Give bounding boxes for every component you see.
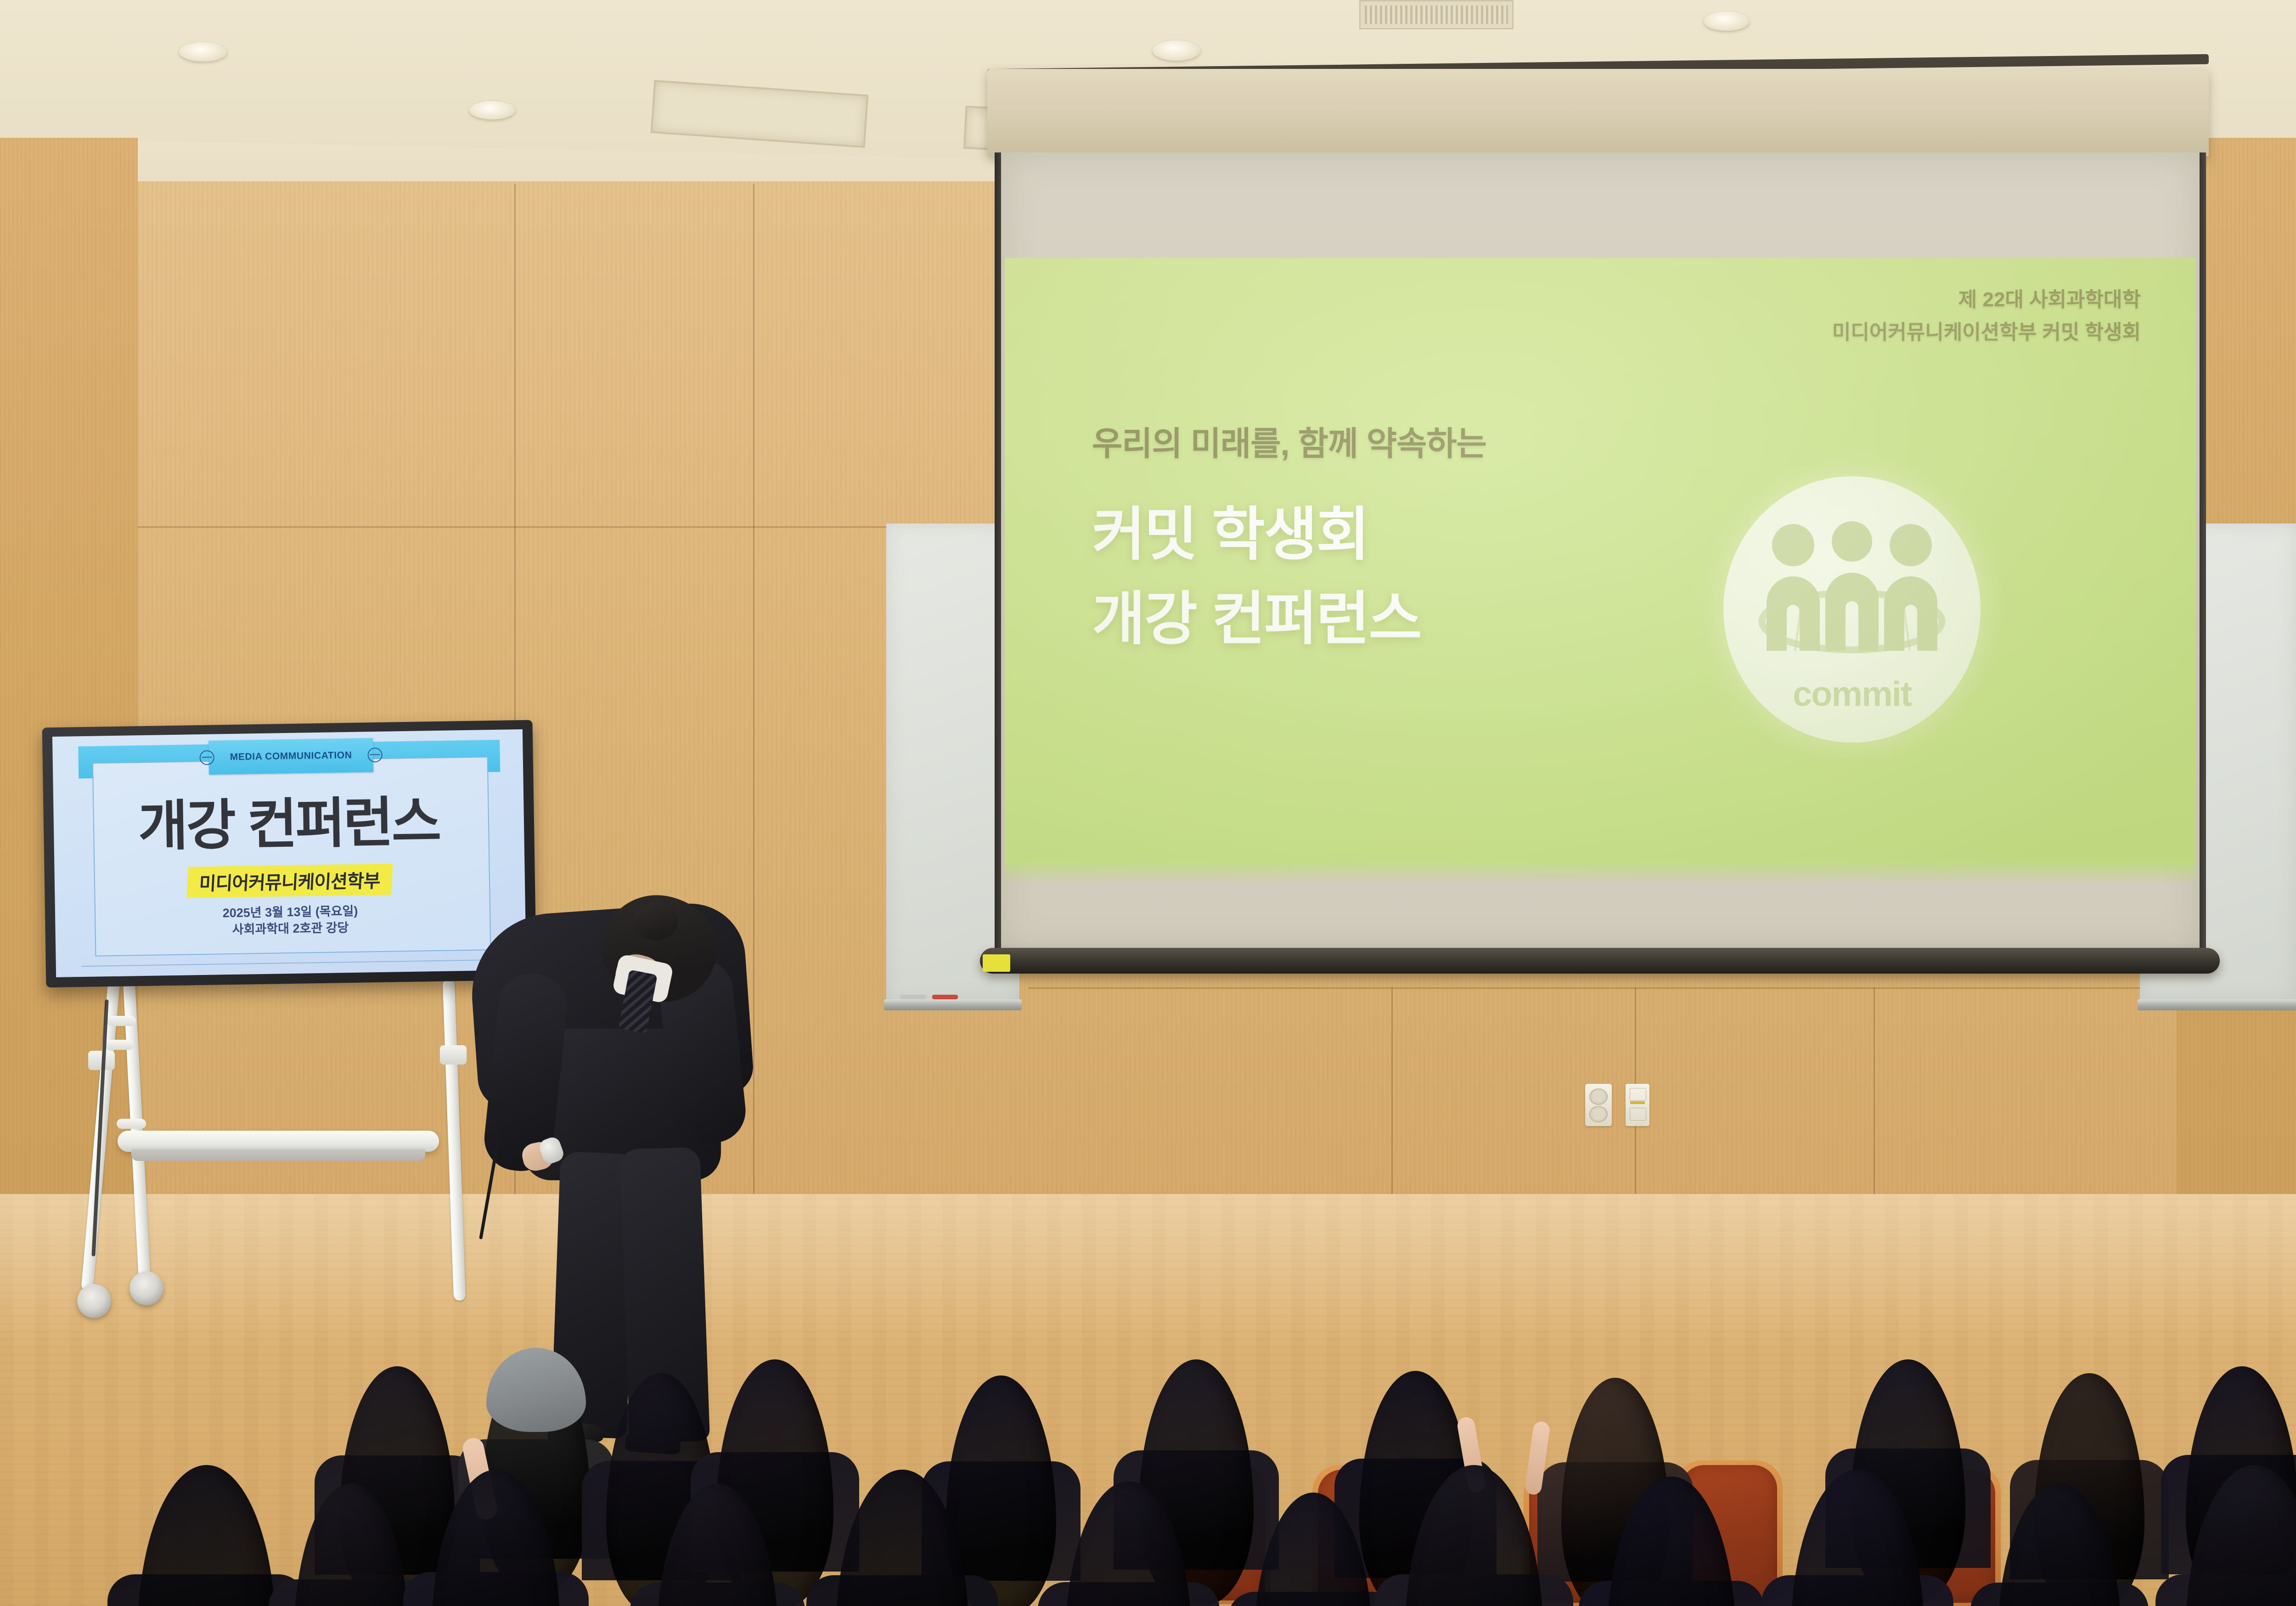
audience-member xyxy=(1254,1493,1373,1606)
audience-hair xyxy=(1254,1493,1373,1606)
audience-hair xyxy=(138,1465,276,1606)
commit-logo: commit xyxy=(1723,476,1981,743)
cart-cable-hook[interactable] xyxy=(105,1040,134,1050)
light-switch[interactable] xyxy=(1626,1084,1649,1126)
ceiling-downlight xyxy=(179,42,227,62)
audience-member xyxy=(2186,1465,2296,1606)
whiteboard-marker[interactable] xyxy=(900,995,926,999)
cart-shelf-underside xyxy=(131,1149,425,1161)
outlet-socket xyxy=(1589,1106,1608,1122)
light-switch-button[interactable] xyxy=(1630,1088,1646,1101)
slide-org-line2: 미디어커뮤니케이션학부 커밋 학생회 xyxy=(1832,316,2141,349)
tv-monitor[interactable]: MEDIA COMMUNICATION 개강 컨퍼런스 미디어커뮤니케이션학부 … xyxy=(42,720,537,988)
projected-slide: 제 22대 사회과학대학 미디어커뮤니케이션학부 커밋 학생회 우리의 미래를,… xyxy=(1005,258,2196,885)
cart-caster[interactable] xyxy=(129,1271,163,1305)
whiteboard-marker[interactable] xyxy=(932,995,958,999)
audience-hair xyxy=(1998,1483,2122,1606)
audience-hair xyxy=(432,1470,560,1606)
audience-member xyxy=(432,1470,560,1606)
slide-org-line1: 제 22대 사회과학대학 xyxy=(1832,283,2141,316)
bolt-icon xyxy=(200,750,214,765)
logo-wordmark: commit xyxy=(1723,674,1981,714)
cart-caster[interactable] xyxy=(77,1284,111,1318)
light-switch-label xyxy=(1630,1101,1645,1104)
audience-member xyxy=(657,1483,778,1606)
cart-leg xyxy=(443,979,466,1301)
audience-member xyxy=(1405,1465,1543,1606)
audience-member xyxy=(836,1470,969,1606)
audience-member xyxy=(1065,1481,1192,1606)
tv-screen: MEDIA COMMUNICATION 개강 컨퍼런스 미디어커뮤니케이션학부 … xyxy=(52,729,526,977)
slide-title: 커밋 학생회 개강 컨퍼런스 xyxy=(1092,492,1421,661)
slide-title-line1: 커밋 학생회 xyxy=(1092,492,1421,577)
screen-bottom-weight-bar[interactable] xyxy=(980,948,2220,974)
presenter-hair-bun xyxy=(634,902,678,941)
bolt-icon xyxy=(367,748,382,762)
cart-cable-hook[interactable] xyxy=(117,1119,146,1129)
slide-organisation: 제 22대 사회과학대학 미디어커뮤니케이션학부 커밋 학생회 xyxy=(1832,283,2141,349)
audience-hair xyxy=(294,1483,409,1606)
tv-department-highlight: 미디어커뮤니케이션학부 xyxy=(186,863,393,898)
audience-hair xyxy=(1065,1481,1192,1606)
screen-surface: 제 22대 사회과학대학 미디어커뮤니케이션학부 커밋 학생회 우리의 미래를,… xyxy=(1001,152,2200,952)
tv-brand-label: SAMSUNG xyxy=(276,984,308,990)
audience-hair xyxy=(657,1483,778,1606)
cart-cable-hook[interactable] xyxy=(107,1016,136,1026)
audience-member xyxy=(294,1483,409,1606)
audience-hair xyxy=(836,1470,969,1606)
tv-slide-baseline xyxy=(82,959,501,967)
audience-cap xyxy=(486,1348,585,1432)
audience-member xyxy=(1791,1470,1924,1606)
tv-slide-title: 개강 컨퍼런스 xyxy=(53,794,524,855)
audience-member xyxy=(138,1465,276,1606)
audience-hair xyxy=(1405,1465,1543,1606)
screen-yellow-tag xyxy=(983,954,1010,972)
ceiling-vent xyxy=(1359,0,1514,29)
tv-cart-assembly: MEDIA COMMUNICATION 개강 컨퍼런스 미디어커뮤니케이션학부 … xyxy=(44,724,537,1495)
audience-hair xyxy=(1791,1470,1924,1606)
projection-screen-assembly: 제 22대 사회과학대학 미디어커뮤니케이션학부 커밋 학생회 우리의 미래를,… xyxy=(1001,69,2200,1010)
cart-height-collar[interactable] xyxy=(440,1045,467,1065)
tv-slide-banner: MEDIA COMMUNICATION xyxy=(208,738,373,775)
ceiling-downlight xyxy=(469,101,515,119)
audience-member xyxy=(1607,1476,1736,1606)
power-outlet[interactable] xyxy=(1585,1084,1612,1126)
audience-hair xyxy=(2186,1465,2296,1606)
screen-roller-case xyxy=(987,69,2209,156)
audience-hair xyxy=(1607,1476,1736,1606)
auditorium-scene: 제 22대 사회과학대학 미디어커뮤니케이션학부 커밋 학생회 우리의 미래를,… xyxy=(0,0,2296,1606)
slide-kicker: 우리의 미래를, 함께 약속하는 xyxy=(1092,417,1486,465)
logo-three-people-icon xyxy=(1751,513,1953,697)
outlet-socket xyxy=(1589,1088,1608,1105)
ceiling-downlight xyxy=(1153,40,1200,61)
light-switch-button[interactable] xyxy=(1630,1108,1646,1121)
vent-slats xyxy=(1365,6,1508,24)
audience-member xyxy=(1998,1483,2122,1606)
tv-banner-label: MEDIA COMMUNICATION xyxy=(230,750,352,763)
ceiling-downlight xyxy=(1704,11,1750,31)
slide-title-line2: 개강 컨퍼런스 xyxy=(1092,577,1421,661)
